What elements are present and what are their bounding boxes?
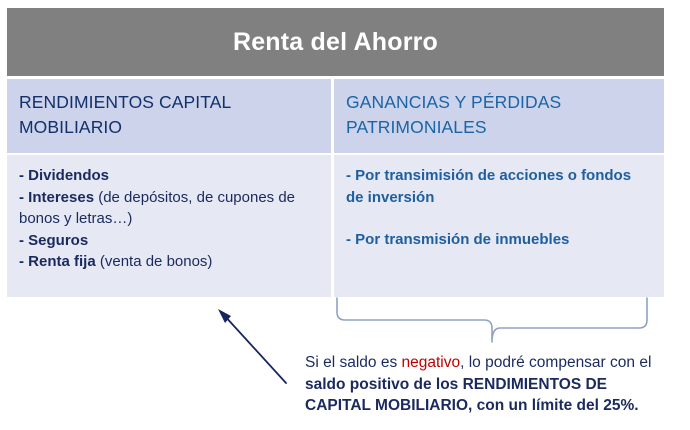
column-body-right: - Por transimisión de acciones o fondos …	[334, 155, 664, 297]
arrow-icon	[200, 296, 310, 396]
list-item-term: - Intereses	[19, 189, 94, 206]
annotation-text-before: Si el saldo es	[305, 354, 402, 371]
list-item-continuation: de inversión	[346, 187, 652, 209]
column-header-right-label: GANANCIAS Y PÉRDIDAS PATRIMONIALES	[346, 90, 652, 140]
annotation-line-1: Si el saldo es negativo, lo podré compen…	[305, 352, 683, 374]
pointer-arrow	[200, 296, 310, 396]
annotation-line-3: CAPITAL MOBILIARIO, con un límite del 25…	[305, 395, 683, 417]
brace-icon	[330, 294, 670, 344]
annotation-text-after: , lo podré compensar con el	[460, 354, 651, 371]
slide-canvas: Renta del Ahorro RENDIMIENTOS CAPITAL MO…	[0, 0, 690, 430]
column-body-left: - Dividendos - Intereses (de depósitos, …	[7, 155, 331, 297]
list-item: - Renta fija (venta de bonos)	[19, 251, 319, 273]
column-header-right: GANANCIAS Y PÉRDIDAS PATRIMONIALES	[334, 79, 664, 153]
annotation-highlight-negativo: negativo	[402, 354, 461, 371]
list-item: - Por transimisión de acciones o fondos	[346, 165, 652, 187]
list-item-term: - Renta fija	[19, 253, 96, 270]
list-item-continuation: bonos y letras…)	[19, 208, 319, 230]
column-ganancias-y-perdidas-patrimoniales: GANANCIAS Y PÉRDIDAS PATRIMONIALES - Por…	[334, 79, 664, 297]
list-item-term: - Seguros	[19, 232, 88, 249]
list-item-detail: (de depósitos, de cupones de	[94, 189, 295, 206]
list-item-term: - Dividendos	[19, 167, 109, 184]
list-item-detail: (venta de bonos)	[96, 253, 213, 270]
brace-bracket	[330, 294, 670, 344]
column-header-left: RENDIMIENTOS CAPITAL MOBILIARIO	[7, 79, 331, 153]
list-item: - Dividendos	[19, 165, 319, 187]
list-item: - Seguros	[19, 230, 319, 252]
list-item-detail: bonos y letras…)	[19, 210, 132, 227]
list-item: - Intereses (de depósitos, de cupones de	[19, 187, 319, 209]
annotation-line-2: saldo positivo de los RENDIMIENTOS DE	[305, 374, 683, 396]
title-bar: Renta del Ahorro	[7, 8, 664, 76]
list-item: - Por transmisión de inmuebles	[346, 229, 652, 251]
column-rendimientos-capital-mobiliario: RENDIMIENTOS CAPITAL MOBILIARIO - Divide…	[7, 79, 331, 297]
annotation-note: Si el saldo es negativo, lo podré compen…	[305, 352, 683, 417]
column-header-left-label: RENDIMIENTOS CAPITAL MOBILIARIO	[19, 90, 319, 140]
savings-income-table: RENDIMIENTOS CAPITAL MOBILIARIO - Divide…	[7, 79, 664, 297]
page-title: Renta del Ahorro	[233, 28, 438, 57]
